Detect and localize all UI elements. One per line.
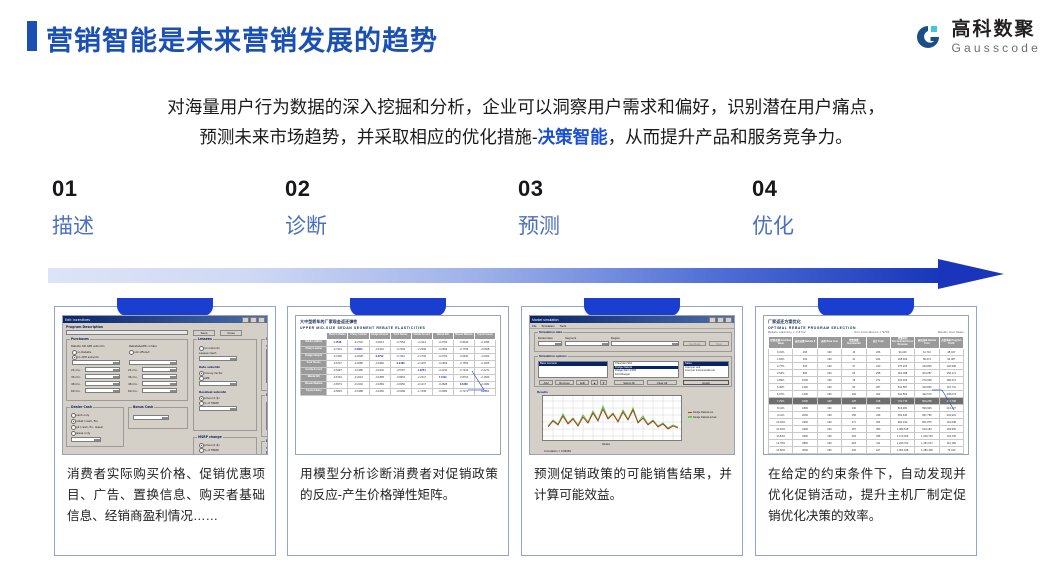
col-header: 返利 Base Line: [817, 337, 841, 349]
table-row: 0.31%2001901620690,24041,71048,447: [769, 349, 964, 356]
label-not-offered: not offered: [134, 350, 149, 354]
label-no-subvntn: no subvntn: [204, 346, 220, 350]
list-models[interactable]: Chevrolet S10 Dodge Dakota Dodge Ram 150…: [266, 349, 268, 383]
list-scenarios[interactable]: Base scenario: [538, 361, 608, 378]
table-row: 11.84%26001902033951,173,4091,029,703143…: [769, 433, 964, 440]
cell: 180,374: [939, 377, 963, 384]
cell: -0.2211: [432, 367, 453, 374]
cell: -0.7313: [327, 346, 348, 353]
cell: 140,860: [915, 363, 939, 370]
graph-button[interactable]: Graph: [683, 380, 729, 385]
cell: -0.7293: [390, 346, 411, 353]
cell: 14.57%: [769, 454, 793, 455]
cell: 208,073: [939, 391, 963, 398]
label-term-24-b: 24 mo.: [128, 368, 138, 372]
cell: -0.2794: [432, 353, 453, 360]
cell: -0.5767: [390, 367, 411, 374]
list-item[interactable]: GMC Sonoma: [267, 364, 268, 368]
list-models[interactable]: Chevrolet S10 Dodge Dakota Dodge Ram 150…: [613, 361, 679, 378]
label-term-60-a: 60 mo.: [71, 389, 81, 393]
step-04: 04 优化: [752, 176, 972, 242]
cell: -0.6490: [453, 353, 474, 360]
table-row: 7.29%1600190125318722,719509,208213,708: [769, 398, 964, 405]
cell: 3000: [793, 447, 817, 454]
list-item[interactable]: Ford Ranger: [614, 373, 678, 377]
cell: 258: [866, 370, 890, 377]
label-program-description: Program Description: [66, 325, 103, 329]
logo-name-en: Gausscode: [951, 42, 1041, 54]
list-item[interactable]: Southwest: [267, 414, 268, 418]
menu-file[interactable]: File: [532, 324, 537, 328]
cell: 90,240: [890, 349, 914, 356]
cell: -0.7271: [453, 388, 474, 395]
step-03: 03 预测: [518, 176, 738, 242]
cell: 213,427: [939, 405, 963, 412]
table-row: 10.93%24001901873801,080,518913,184169,9…: [769, 426, 964, 433]
gausscode-circle-logo-icon: [914, 22, 944, 52]
cell: 1400: [793, 391, 817, 398]
cell: 204,287: [915, 370, 939, 377]
card-predict-tab: [584, 298, 680, 316]
cell: 7.1691: [432, 374, 453, 381]
list-item[interactable]: Dodge Dakota: [267, 354, 268, 358]
cell: -0.5645: [327, 388, 348, 395]
rebate-title-cn: 厂家返还方案优化: [768, 319, 964, 325]
group-bonus-cash-title: Bonus Cash: [132, 405, 154, 409]
menu-tools[interactable]: Tools: [560, 324, 567, 328]
cell: 1,151,017: [915, 440, 939, 447]
cell: 171: [842, 419, 866, 426]
cell: -0.8040: [453, 339, 474, 346]
cell: -0.2692: [432, 346, 453, 353]
table-row: Nissan Maxima -0.6573 -0.2149 -0.1869 -0…: [301, 381, 496, 388]
cell: -0.2794: [432, 339, 453, 346]
input-program-description[interactable]: [66, 330, 188, 335]
combo-segment[interactable]: [565, 341, 609, 346]
label-term-60-b: 60 mo.: [128, 389, 138, 393]
cell: 204,901: [939, 412, 963, 419]
card-diagnose-screenshot: 大中型轿车的厂家现金返还弹性 UPPER MID-SIZE SEDAN SEGM…: [295, 315, 501, 455]
cell: 697,796: [915, 412, 939, 419]
menu-simulation[interactable]: Simulation: [542, 324, 555, 328]
cell: 0.31%: [769, 349, 793, 356]
cell: -2.1497: [411, 360, 432, 367]
cell: 2.2663: [348, 346, 369, 353]
card-predict[interactable]: Market simulation File Simulation Tools …: [521, 306, 743, 556]
table-header-row: 促销金额 Incentive Value 返还金额 Rebate $ 返利 Ba…: [769, 337, 964, 349]
combo-term-36-b[interactable]: [142, 374, 177, 379]
step-04-number: 04: [752, 176, 972, 202]
move-up-button[interactable]: ▲: [591, 380, 598, 385]
label-term-48-a: 48 mo.: [71, 382, 81, 386]
group-purchases: Purchases Rebate OR APR subvntn Rebate&A…: [66, 339, 188, 401]
group-msrp-change: MSRP change amount ($) % of MSRP: [193, 437, 257, 455]
cell: 1,351,948: [890, 447, 914, 454]
combo-rate-value[interactable]: [199, 381, 237, 386]
stop-button[interactable]: Stop: [709, 341, 729, 346]
cell: 218: [842, 440, 866, 447]
title-accent-bar: [27, 21, 37, 51]
label-msrp-pct: % of MSRP: [204, 448, 219, 452]
remove-button[interactable]: Remove: [555, 380, 574, 385]
cell: 13.66%: [769, 447, 793, 454]
step-01-number: 01: [52, 176, 272, 202]
row-header: Dodge Intrepid: [301, 353, 327, 360]
list-item[interactable]: Ford Ranger: [267, 361, 268, 365]
table-row: 8.11%1800190140333813,281599,906213,427: [769, 405, 964, 412]
group-simulation-data-title: Simulation data: [538, 330, 563, 334]
cell: -0.7254: [390, 339, 411, 346]
cell: -2.2271: [474, 367, 495, 374]
group-bonus-cash: Bonus Cash: [128, 407, 188, 429]
cell: 2800: [793, 440, 817, 447]
label-results: Results: [537, 390, 548, 394]
combo-term-48-a[interactable]: [85, 381, 120, 386]
col-header: Nissan Maxima: [453, 333, 474, 340]
cell: 190: [817, 440, 841, 447]
list-item[interactable]: Northeast: [267, 407, 268, 411]
group-save-incentives-title: Save incentives: [265, 337, 268, 341]
card-describe[interactable]: Edit incentives Program Description Purc…: [54, 306, 276, 556]
edit-button[interactable]: Edit: [576, 380, 589, 385]
cell: 112,186: [939, 440, 963, 447]
cell: 47: [842, 363, 866, 370]
cell: -0.7314: [453, 367, 474, 374]
simulation-titlebar: Market simulation: [530, 316, 734, 323]
group-save-incentives: Save incentives Model(s) Chevrolet S10 D…: [261, 339, 268, 391]
group-simulation-options: Simulation options Base scenario Chevrol…: [534, 356, 732, 387]
list-metrics[interactable]: Sales Cost per unit Cost per incremental…: [683, 361, 729, 378]
cell: 10.02%: [769, 419, 793, 426]
cell: -0.6352: [390, 381, 411, 388]
cell: 333: [866, 405, 890, 412]
cell: 1600: [793, 398, 817, 405]
label-no-apr-subvntn: no APR subvntn: [77, 355, 99, 359]
card-row: Edit incentives Program Description Purc…: [0, 296, 1051, 564]
card-describe-screenshot: Edit incentives Program Description Purc…: [62, 315, 268, 455]
optimal-rebate-body: 0.31%2001901620690,24041,71048,4471.60%4…: [769, 349, 964, 455]
cell: 190: [817, 398, 841, 405]
cell: 6.6752: [369, 353, 390, 360]
card-optimize-caption: 在给定的约束条件下，自动发现并优化促销活动，提升主机厂制定促销优化决策的效率。: [768, 464, 966, 527]
label-segment: Segment: [565, 336, 576, 340]
col-header: 返还金额 Rebate $: [793, 337, 817, 349]
cell: 800: [793, 370, 817, 377]
cell: 206: [866, 349, 890, 356]
cell: 190: [817, 349, 841, 356]
window-controls: [709, 317, 732, 323]
table-row: 3.54%80019062258361,098204,287156,171: [769, 370, 964, 377]
combo-model-class[interactable]: [538, 341, 562, 346]
list-item[interactable]: Dodge Ram 1500: [267, 357, 268, 361]
cell: 125: [842, 398, 866, 405]
combo-residual-value[interactable]: [199, 406, 237, 411]
cell: 801,875: [915, 419, 939, 426]
cell: 234: [842, 447, 866, 454]
label-apr: APR: [204, 376, 210, 380]
cell: -0.6573: [327, 381, 348, 388]
dialog-title: Edit incentives: [65, 318, 90, 322]
cell: 89,672: [915, 356, 939, 363]
cell: 4.2561: [474, 388, 495, 395]
label-cash-only: cash only: [76, 413, 89, 417]
cell: 631,802: [890, 391, 914, 398]
menubar[interactable]: File Simulation Tools: [530, 323, 734, 329]
cell: 249: [842, 454, 866, 455]
cell: 143,706: [939, 433, 963, 440]
group-dealer-cash: Dealer Cash cash only rebat (cash, fin) …: [66, 407, 124, 447]
cell: -0.7206: [327, 353, 348, 360]
chart-xlabel: Weeks: [602, 443, 610, 446]
cell: 9.11%: [769, 412, 793, 419]
combo-term-24-a[interactable]: [85, 367, 120, 372]
cell: 599,906: [915, 405, 939, 412]
cell: -0.2210: [348, 374, 369, 381]
clear-all-button[interactable]: Clear All: [647, 380, 677, 385]
cell: 1,080,518: [890, 426, 914, 433]
cell: -0.1660: [369, 388, 390, 395]
cell: 2600: [793, 433, 817, 440]
cell: 343,846: [915, 384, 939, 391]
cell: 1,029,703: [915, 433, 939, 440]
list-item[interactable]: Cost per incremental unit: [684, 369, 728, 373]
row-header: Honda Accord: [301, 367, 327, 374]
label-residual-subvntn: Residual subvntn: [199, 390, 226, 394]
cell: 2000: [793, 412, 817, 419]
list-item[interactable]: Base scenario: [539, 362, 607, 366]
cell: -1.7436: [411, 388, 432, 395]
cell: 1.60%: [769, 356, 793, 363]
cell: -2.1217: [411, 381, 432, 388]
col-header: 增量销量 Incremental: [842, 337, 866, 349]
cell: 4.0254: [411, 367, 432, 374]
cell: 168,329: [890, 356, 914, 363]
cell: 12.76%: [769, 440, 793, 447]
cell: 156: [842, 412, 866, 419]
cell: -0.6704: [327, 374, 348, 381]
brand-logo: 高科数聚 Gausscode: [914, 20, 1041, 54]
table-row: 1.60%40019031224168,32989,67290,487: [769, 356, 964, 363]
cell: -0.7756: [453, 346, 474, 353]
cell: -0.1986: [348, 367, 369, 374]
col-header: Dodge Intrepid: [369, 333, 390, 340]
cell: 401,023: [890, 377, 914, 384]
cell: -2.1925: [474, 360, 495, 367]
intro-line-1: 对海量用户行为数据的深入挖掘和分析，企业可以洞察用户需求和偏好，识别潜在用户痛点…: [167, 97, 885, 117]
get-data-button[interactable]: Get Data: [683, 341, 706, 346]
close-button[interactable]: Close: [220, 330, 242, 336]
cell: 380: [866, 426, 890, 433]
cell: 1,444,282: [890, 454, 914, 455]
col-header: 促销金额 Incentive Value: [769, 337, 793, 349]
card-optimize[interactable]: 厂家返还方案优化 OPTIMAL REBATE PROGRAM SELECTIO…: [755, 306, 977, 556]
intro-line-2-before: 预测未来市场趋势，并采取相应的优化措施-: [199, 127, 537, 147]
cell: 270,948: [915, 377, 939, 384]
cell: 187: [842, 426, 866, 433]
intro-highlight: 决策智能: [538, 127, 608, 147]
cell: 8.6480: [453, 381, 474, 388]
cell: 2.77%: [769, 363, 793, 370]
cell: 48,447: [939, 349, 963, 356]
cell: 1800: [793, 405, 817, 412]
label-money-factor: money factor: [204, 371, 223, 375]
cell: 41,710: [915, 349, 939, 356]
intro-paragraph: 对海量用户行为数据的深入挖掘和分析，企业可以洞察用户需求和偏好，识别潜在用户痛点…: [50, 92, 1002, 152]
cell: 16: [842, 349, 866, 356]
cell: 126,908: [939, 363, 963, 370]
cell: 190: [817, 405, 841, 412]
legend-label: Dodge Dakota est.: [693, 411, 714, 414]
cell: 190: [817, 356, 841, 363]
table-row: Chevy Lumina -0.7313 2.2663 -0.1991 -0.7…: [301, 346, 496, 353]
cell: 318: [866, 398, 890, 405]
cell: 509,208: [915, 398, 939, 405]
cell: 422,570: [915, 391, 939, 398]
step-02-label: 诊断: [285, 212, 505, 242]
cell: 3200: [793, 454, 817, 455]
cell: 11.84%: [769, 433, 793, 440]
card-describe-tab: [117, 298, 213, 316]
cell: 190: [817, 454, 841, 455]
cell: 913,184: [915, 426, 939, 433]
label-term-36-b: 36 mo.: [128, 375, 138, 379]
cell: 1,280,108: [915, 447, 939, 454]
group-lessees: Lessees no subvntn Lessee Cash Rate subv…: [193, 339, 257, 431]
combo-lessee-cash[interactable]: [199, 356, 237, 361]
select-all-button[interactable]: Select All: [614, 380, 644, 385]
group-regions: Region(s) Midwest Northeast Southeast So…: [261, 395, 268, 437]
table-row: 12.76%28001902184111,260,7031,151,017112…: [769, 440, 964, 447]
cell: 109: [842, 391, 866, 398]
combo-term-60-a[interactable]: [85, 388, 120, 393]
label-msrp-amount: amount ($): [204, 443, 220, 447]
step-02-number: 02: [285, 176, 505, 202]
legend-item-actual: Dodge Dakota actual: [688, 416, 716, 419]
card-diagnose[interactable]: 大中型轿车的厂家现金返还弹性 UPPER MID-SIZE SEDAN SEGM…: [287, 306, 509, 556]
cell: -2.1702: [411, 353, 432, 360]
table-row: Mazda 626 -0.6704 -0.2210 -0.1895 -0.695…: [301, 374, 496, 381]
label-lease-only: lease only: [76, 431, 90, 435]
intro-line-2: 预测未来市场趋势，并采取相应的优化措施-决策智能，从而提升产品和服务竞争力。: [50, 122, 1002, 152]
corner-cell: [301, 333, 327, 340]
save-button[interactable]: Save: [193, 330, 215, 336]
row-header: Toyota Camry: [301, 388, 327, 395]
card-describe-caption: 消费者实际购买价格、促销优惠项目、广告、置换信息、购买者基础信息、经销商盈利情况…: [67, 464, 265, 527]
cell: 190: [817, 412, 841, 419]
table-row: 13.66%30001902344271,351,9481,280,10873,…: [769, 447, 964, 454]
cell: 442: [866, 454, 890, 455]
group-simulation-data: Simulation data Model class Segment Regi…: [534, 332, 732, 352]
list-item[interactable]: Southeast: [267, 410, 268, 414]
combo-term-36-a[interactable]: [85, 374, 120, 379]
elasticity-matrix-table: Buick LeSabre Chevy Lumina Dodge Intrepi…: [300, 332, 496, 396]
list-item[interactable]: West: [267, 417, 268, 421]
cell: -2.1982: [474, 381, 495, 388]
cell: 2200: [793, 419, 817, 426]
group-reference-incentives: Reference incentives Model Region Clear …: [261, 441, 268, 455]
cell: -0.2828: [432, 381, 453, 388]
cell: 349: [866, 412, 890, 419]
cell: 302: [866, 391, 890, 398]
cell: 62: [842, 370, 866, 377]
group-msrp-change-title: MSRP change: [197, 435, 223, 439]
cell: 224: [866, 356, 890, 363]
cell: 1,413,754: [915, 454, 939, 455]
cell: -0.7500: [453, 360, 474, 367]
col-header: Honda Accord: [411, 333, 432, 340]
table-row: 9.11%2000190156349902,640697,796204,901: [769, 412, 964, 419]
cell: -0.6707: [327, 360, 348, 367]
combo-region[interactable]: [611, 341, 679, 346]
move-down-button[interactable]: ▼: [600, 380, 607, 385]
cell: -0.8704: [453, 374, 474, 381]
group-dealer-cash-title: Dealer Cash: [70, 405, 93, 409]
card-predict-screenshot: Market simulation File Simulation Tools …: [529, 315, 735, 455]
list-item[interactable]: Mazda B-Series: [267, 368, 268, 372]
cell: 6.9480: [390, 360, 411, 367]
list-regions[interactable]: Midwest Northeast Southeast Southwest We…: [266, 402, 268, 430]
combo-bonus-cash[interactable]: [133, 415, 169, 420]
intro-line-2-after: ，从而提升产品和服务竞争力。: [608, 127, 853, 147]
cell: 361,098: [890, 370, 914, 377]
rebate-elasticity: Rebate elasticity = 0.8712: [768, 331, 806, 334]
add-button[interactable]: Add: [539, 380, 553, 385]
row-header: Chevy Lumina: [301, 346, 327, 353]
table-row: 4.89%100019078271401,023270,948180,374: [769, 377, 964, 384]
combo-term-48-b[interactable]: [142, 381, 177, 386]
cell: 541,587: [890, 384, 914, 391]
correlation-text: Correlation = 0.96381: [544, 449, 571, 453]
table-row: Toyota Camry -0.5645 -0.1988 -0.1660 -0.…: [301, 388, 496, 395]
combo-ref-model[interactable]: [266, 451, 268, 455]
list-item[interactable]: Chevrolet S10: [267, 350, 268, 354]
cell: -2.1096: [474, 339, 495, 346]
cell: 90,487: [939, 356, 963, 363]
optimal-rebate-table: 促销金额 Incentive Value 返还金额 Rebate $ 返利 Ba…: [768, 336, 964, 455]
combo-combo-amount[interactable]: [129, 360, 177, 365]
row-header: Mazda 626: [301, 374, 327, 381]
cell: 1,173,409: [890, 433, 914, 440]
step-04-label: 优化: [752, 212, 972, 242]
group-regions-title: Region(s): [265, 393, 268, 397]
cell: 30,438: [939, 454, 963, 455]
combo-term-60-b[interactable]: [142, 388, 177, 393]
list-item[interactable]: Nissan Frontier: [267, 372, 268, 376]
cell: -0.1869: [369, 381, 390, 388]
cell: -0.2028: [348, 353, 369, 360]
legend-label: Dodge Dakota actual: [693, 416, 716, 419]
cell: 10.93%: [769, 426, 793, 433]
cell: 6.37%: [769, 391, 793, 398]
card-optimize-screenshot: 厂家返还方案优化 OPTIMAL REBATE PROGRAM SELECTIO…: [763, 315, 969, 455]
cell: 78: [842, 377, 866, 384]
step-01-label: 描述: [52, 212, 272, 242]
cell: -0.6189: [390, 388, 411, 395]
combo-msrp-value[interactable]: [199, 454, 237, 455]
combo-term-24-b[interactable]: [142, 367, 177, 372]
combo-rebate-amount[interactable]: [72, 360, 120, 365]
group-purchases-title: Purchases: [70, 337, 90, 341]
logo-name-cn: 高科数聚: [951, 20, 1041, 39]
table-row: 14.57%32001902494421,444,2821,413,75430,…: [769, 454, 964, 455]
cell: -0.7110: [390, 353, 411, 360]
combo-dealer-cash[interactable]: [71, 437, 101, 442]
card-diagnose-tab: [350, 298, 446, 316]
label-rebate-or-apr: Rebate OR APR subvntn: [71, 344, 105, 348]
cell: 813,281: [890, 405, 914, 412]
list-item[interactable]: Midwest: [267, 403, 268, 407]
cell: 213,708: [939, 398, 963, 405]
